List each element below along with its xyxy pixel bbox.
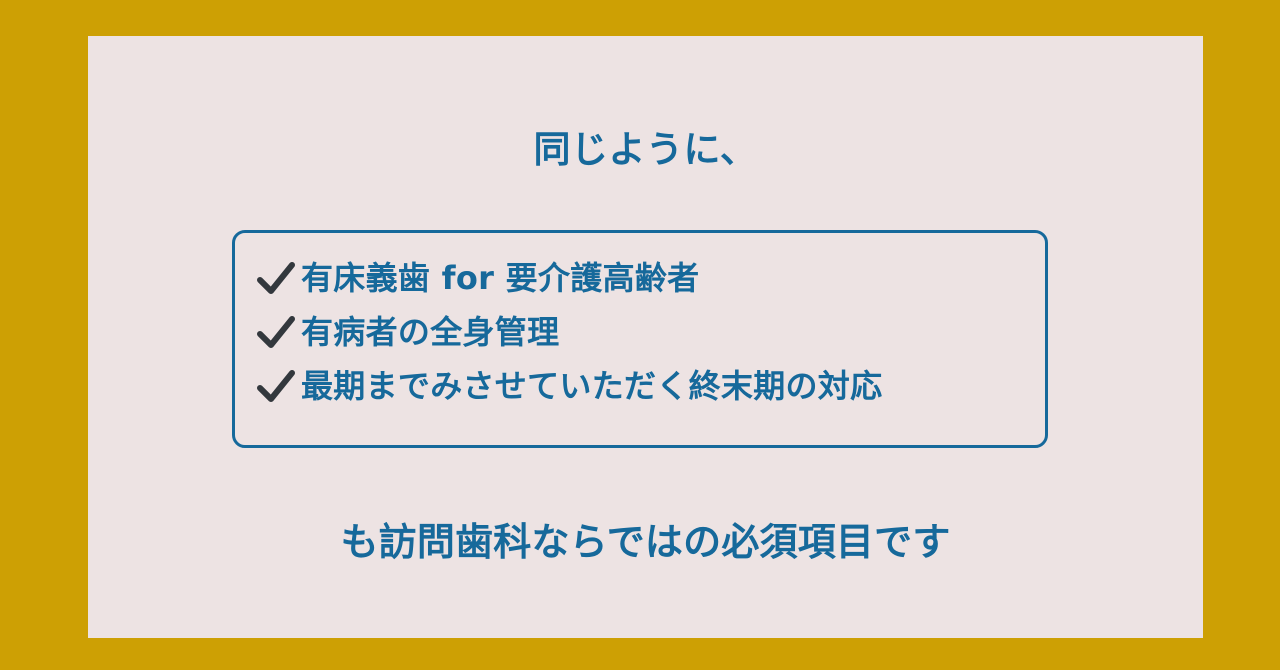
footer-caption: も訪問歯科ならではの必須項目です	[88, 520, 1203, 566]
list-item: 最期までみさせていただく終末期の対応	[255, 359, 1035, 413]
checklist: 有床義歯 for 要介護高齢者 有病者の全身管理	[255, 251, 1035, 413]
check-icon	[255, 258, 297, 298]
list-item: 有病者の全身管理	[255, 305, 1035, 359]
content-panel: 同じように、 有床義歯 for 要介護高齢者	[88, 36, 1203, 638]
list-item: 有床義歯 for 要介護高齢者	[255, 251, 1035, 305]
list-item-label: 最期までみさせていただく終末期の対応	[301, 370, 882, 402]
list-item-label: 有床義歯 for 要介護高齢者	[301, 262, 699, 294]
check-icon	[255, 312, 297, 352]
list-item-label: 有病者の全身管理	[301, 316, 559, 348]
checklist-container: 有床義歯 for 要介護高齢者 有病者の全身管理	[232, 230, 1048, 448]
slide-title: 同じように、	[88, 128, 1203, 172]
slide-canvas: 同じように、 有床義歯 for 要介護高齢者	[0, 0, 1280, 670]
check-icon	[255, 366, 297, 406]
